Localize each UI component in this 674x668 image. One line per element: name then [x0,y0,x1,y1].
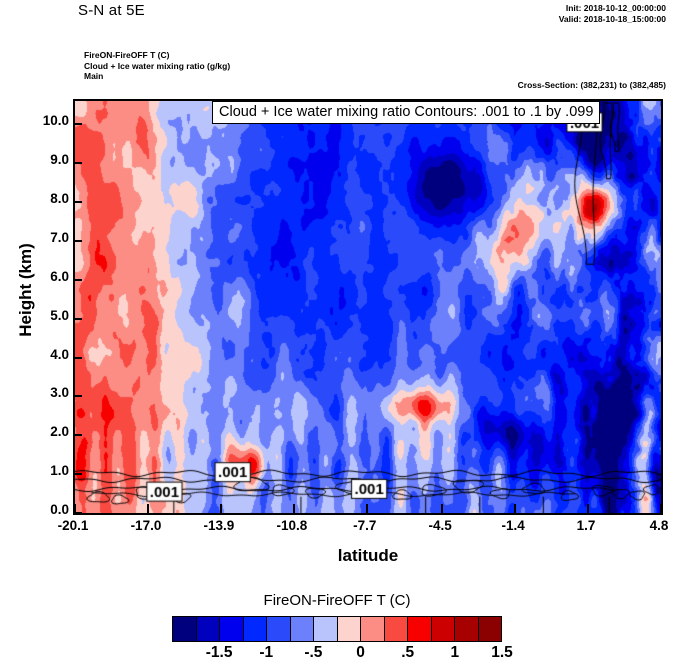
colorbar-tick-label: .5 [401,644,414,662]
x-tick-mark [366,504,368,513]
y-tick-mark [73,201,82,203]
colorbar-cell [479,617,502,641]
x-tick-mark [220,504,222,513]
colorbar-cell [173,617,197,641]
y-tick-mark [73,357,82,359]
colorbar-cell [385,617,409,641]
y-tick-mark [73,473,82,475]
field-name-line: FireON-FireOFF T (C) [84,50,230,61]
field-description-block: FireON-FireOFF T (C) Cloud + Ice water m… [84,50,230,82]
colorbar-tick-label: -.5 [304,644,322,662]
colorbar-tick-label: 1.5 [491,644,513,662]
colorbar-cell [455,617,479,641]
y-tick-mark [73,162,82,164]
colorbar-cell [291,617,315,641]
colorbar-cell [220,617,244,641]
x-tick-label: -17.0 [131,518,162,533]
y-tick-mark [73,395,82,397]
colorbar [172,616,502,642]
x-tick-mark [293,504,295,513]
x-axis-label: latitude [73,546,663,566]
y-axis-label: Height (km) [16,230,36,350]
x-tick-mark [587,504,589,513]
valid-time: Valid: 2018-10-18_15:00:00 [559,14,666,25]
init-time: Init: 2018-10-12_00:00:00 [559,3,666,14]
contour-legend-box: Cloud + Ice water mixing ratio Contours:… [212,101,600,124]
y-tick-mark [73,318,82,320]
colorbar-tick-label: 1 [451,644,460,662]
y-tick-mark [73,240,82,242]
x-tick-label: -13.9 [204,518,235,533]
x-tick-label: -7.7 [353,518,376,533]
colorbar-tick-label: 0 [356,644,365,662]
colorbar-tick-labels: -1.5-1-.50.511.5 [172,644,502,666]
y-tick-label: 9.0 [29,152,69,167]
colorbar-cell [267,617,291,641]
x-tick-label: -1.4 [501,518,524,533]
page-title: S-N at 5E [78,2,145,19]
x-tick-label: 1.7 [577,518,596,533]
y-tick-label: 3.0 [29,385,69,400]
colorbar-cell [197,617,221,641]
colorbar-cell [361,617,385,641]
contour-field-line: Cloud + Ice water mixing ratio (g/kg) [84,61,230,72]
colorbar-tick-label: -1.5 [206,644,233,662]
colorbar-cell [432,617,456,641]
cross-section-endpoints: Cross-Section: (382,231) to (382,485) [518,80,666,90]
x-tick-label: -20.1 [58,518,89,533]
y-tick-mark [73,123,82,125]
colorbar-title: FireON-FireOFF T (C) [172,592,502,609]
x-tick-mark [441,504,443,513]
y-tick-mark [73,434,82,436]
colorbar-cell [338,617,362,641]
colorbar-cell [244,617,268,641]
mixing-ratio-contour-layer [75,101,661,513]
x-tick-label: -10.8 [276,518,307,533]
x-tick-mark [147,504,149,513]
x-tick-mark [514,504,516,513]
colorbar-cell [314,617,338,641]
y-tick-label: 1.0 [29,463,69,478]
colorbar-cell [408,617,432,641]
x-tick-mark [74,504,76,513]
y-tick-label: 0.0 [29,502,69,517]
x-tick-mark [660,504,662,513]
x-tick-label: 4.8 [650,518,669,533]
y-tick-label: 8.0 [29,191,69,206]
colorbar-tick-label: -1 [259,644,273,662]
y-tick-label: 10.0 [29,113,69,128]
y-tick-label: 2.0 [29,424,69,439]
time-stamp-block: Init: 2018-10-12_00:00:00 Valid: 2018-10… [559,3,666,25]
cross-section-plot [73,99,663,515]
x-tick-label: -4.5 [428,518,451,533]
domain-line: Main [84,71,230,82]
y-tick-mark [73,279,82,281]
